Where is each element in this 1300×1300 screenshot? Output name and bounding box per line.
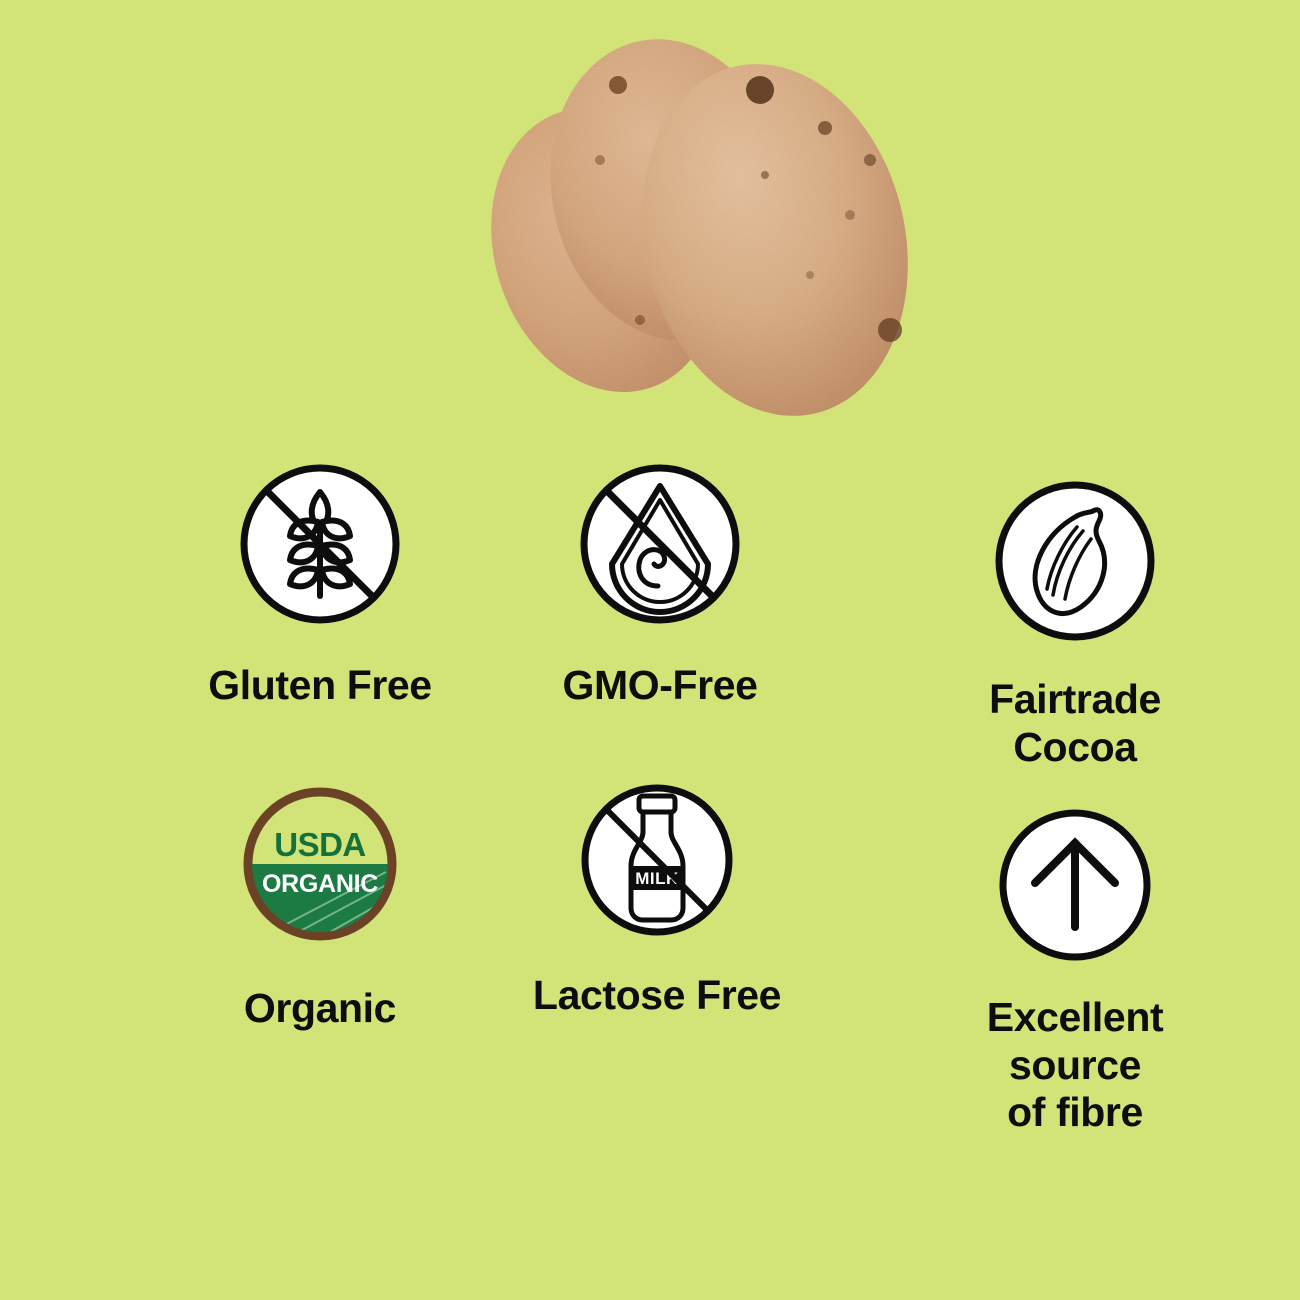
product-photo bbox=[455, 0, 965, 470]
badge-label: GMO-Free bbox=[530, 662, 790, 710]
no-gmo-droplet-icon bbox=[530, 460, 790, 633]
badge-row-2: USDA ORGANIC Organic bbox=[0, 760, 1300, 1090]
usda-seal-bottom-text: ORGANIC bbox=[262, 870, 378, 898]
badge-label: Gluten Free bbox=[190, 662, 450, 710]
badge-label: Organic bbox=[190, 985, 450, 1033]
badge-excellent-source-of-fibre[interactable]: Excellent source of fibre bbox=[920, 805, 1230, 1137]
badge-grid: Gluten Free GMO-Free bbox=[0, 440, 1300, 1090]
badge-row-1: Gluten Free GMO-Free bbox=[0, 440, 1300, 770]
badge-label: Excellent source of fibre bbox=[920, 994, 1230, 1137]
badge-label: Fairtrade Cocoa bbox=[925, 676, 1225, 771]
cocoa-pod-icon bbox=[925, 477, 1225, 650]
usda-organic-seal-icon: USDA ORGANIC bbox=[190, 780, 450, 953]
no-milk-bottle-icon: MILK bbox=[527, 780, 787, 945]
no-gluten-wheat-icon bbox=[190, 460, 450, 633]
usda-seal-top-text: USDA bbox=[274, 826, 366, 863]
badge-label: Lactose Free bbox=[527, 972, 787, 1020]
up-arrow-icon bbox=[920, 805, 1230, 970]
badge-gluten-free[interactable]: Gluten Free bbox=[190, 460, 450, 710]
badge-gmo-free[interactable]: GMO-Free bbox=[530, 460, 790, 710]
infographic-stage: Gluten Free GMO-Free bbox=[0, 0, 1300, 1300]
badge-organic[interactable]: USDA ORGANIC Organic bbox=[190, 780, 450, 1033]
badge-lactose-free[interactable]: MILK Lactose Free bbox=[527, 780, 787, 1020]
badge-fairtrade-cocoa[interactable]: Fairtrade Cocoa bbox=[925, 477, 1225, 771]
